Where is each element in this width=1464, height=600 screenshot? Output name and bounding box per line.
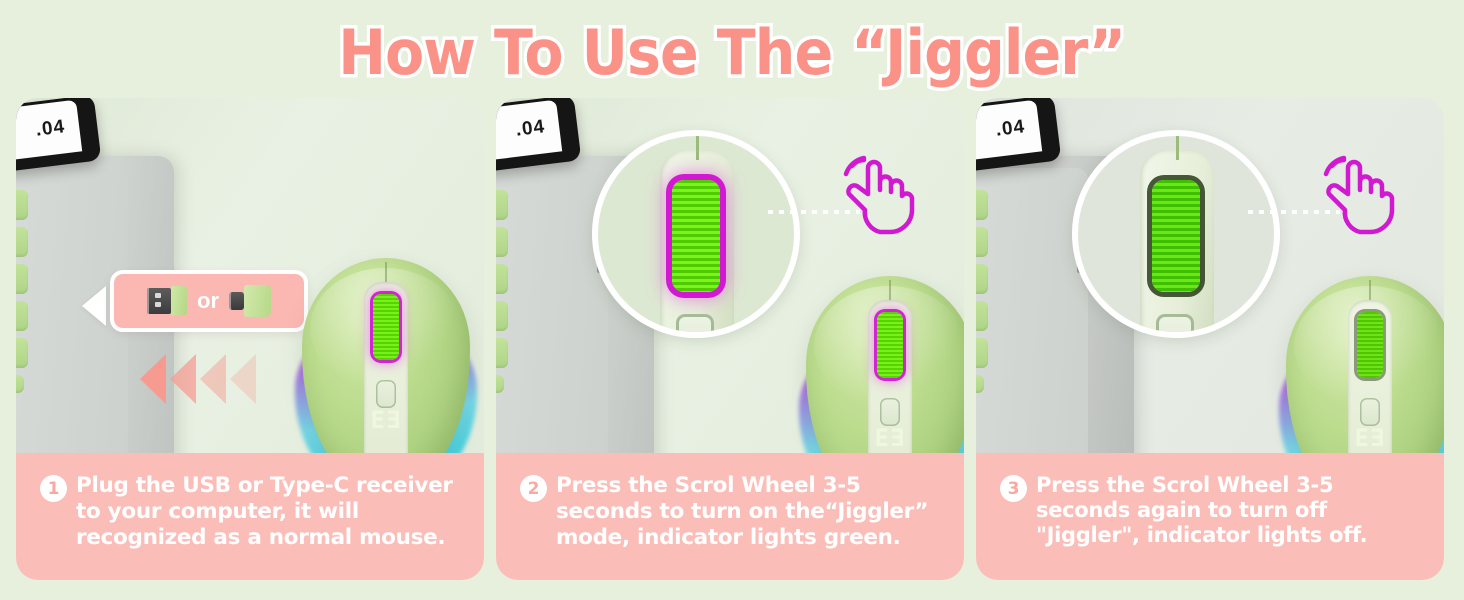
key-delete[interactable]: delete [496,227,508,257]
callout-separator-label: or [197,288,219,314]
usb-c-tip [229,292,244,310]
magnifier-content [1078,136,1274,332]
magnifier-seam [696,130,699,160]
mouse-device: EƎ [806,276,964,453]
dpi-button[interactable] [880,398,900,426]
laptop-screen-text: .04 [16,100,82,169]
mouse-logo: EƎ [1286,424,1444,452]
usb-a-tail [171,286,187,316]
step-3-caption: 3 Press the Scrol Wheel 3-5 seconds agai… [976,453,1444,580]
infographic-page: How To Use The “Jiggler” .04 delete \ re… [0,0,1464,600]
step-caption-text: Press the Scrol Wheel 3-5 seconds to tur… [556,473,948,550]
keyboard-keys: delete \ return shift [976,190,1004,400]
step-3-photo: .04 delete \ return shift [976,98,1444,453]
laptop-screen-text: .04 [976,100,1042,169]
key-arrow[interactable] [976,375,984,393]
step-caption-text: Plug the USB or Type-C receiver to your … [76,473,468,550]
step-1-photo: .04 delete \ return shift [16,98,484,453]
key-arrow[interactable] [496,375,504,393]
tap-hand-icon [832,148,928,240]
chevron-left-icon [230,354,256,404]
magnifier-content [598,136,794,332]
page-title: How To Use The “Jiggler” [0,14,1464,92]
step-panel-1: .04 delete \ return shift [16,98,484,580]
magnified-dpi-button [1156,314,1194,338]
step-caption-text: Press the Scrol Wheel 3-5 seconds again … [1036,473,1428,549]
chevron-left-icon [200,354,226,404]
key-power[interactable] [496,190,508,220]
panel-row: .04 delete \ return shift [0,98,1464,584]
dpi-button[interactable] [376,380,396,408]
mouse-device: EƎ [1286,276,1444,453]
step-panel-2: .04 delete \ return shift [496,98,964,580]
step-number-badge: 2 [520,475,547,502]
magnified-scroll-wheel [672,180,720,292]
step-number-badge: 3 [1000,475,1027,502]
key-return[interactable]: return [496,301,508,331]
laptop-screen-text: .04 [496,100,562,169]
keyboard-keys: delete \ return shift [496,190,524,400]
receiver-callout: or [110,270,308,332]
chevron-left-icon [170,354,196,404]
scroll-wheel-magnifier [1072,130,1280,338]
dpi-button[interactable] [1360,398,1380,426]
key-backslash[interactable]: \ [976,264,988,294]
step-2-photo: .04 delete \ return shift [496,98,964,453]
key-shift[interactable]: shift [976,338,988,368]
key-return[interactable]: return [976,301,988,331]
page-title-text: How To Use The “Jiggler” [339,22,1126,84]
usb-a-metal [147,288,171,314]
mouse-device: EƎ [302,258,470,453]
mouse-logo: EƎ [302,406,470,434]
direction-triangle-icon [82,286,106,326]
key-power[interactable] [976,190,988,220]
key-shift[interactable]: shift [16,338,28,368]
tap-hand-icon [1312,148,1408,240]
chevron-left-icon [140,354,166,404]
magnified-dpi-button [676,314,714,338]
usb-c-body [244,285,271,317]
chevron-group-left-icon [140,354,256,404]
key-return[interactable]: return [16,301,28,331]
scroll-wheel-magnifier [592,130,800,338]
key-delete[interactable]: delete [16,227,28,257]
key-delete[interactable]: delete [976,227,988,257]
key-backslash[interactable]: \ [496,264,508,294]
step-panel-3: .04 delete \ return shift [976,98,1444,580]
key-arrow[interactable] [16,375,24,393]
usb-a-receiver-icon [147,287,187,315]
key-backslash[interactable]: \ [16,264,28,294]
magnifier-seam [1176,130,1179,160]
step-1-caption: 1 Plug the USB or Type-C receiver to you… [16,453,484,580]
scroll-wheel[interactable] [877,312,903,378]
usb-c-receiver-icon [229,287,271,315]
step-2-caption: 2 Press the Scrol Wheel 3-5 seconds to t… [496,453,964,580]
mouse-logo: EƎ [806,424,964,452]
step-number-badge: 1 [40,475,67,502]
magnified-scroll-wheel [1152,180,1200,292]
key-power[interactable] [16,190,28,220]
scroll-wheel[interactable] [1357,312,1383,378]
scroll-wheel[interactable] [373,294,399,360]
keyboard-keys: delete \ return shift [16,190,44,400]
key-shift[interactable]: shift [496,338,508,368]
